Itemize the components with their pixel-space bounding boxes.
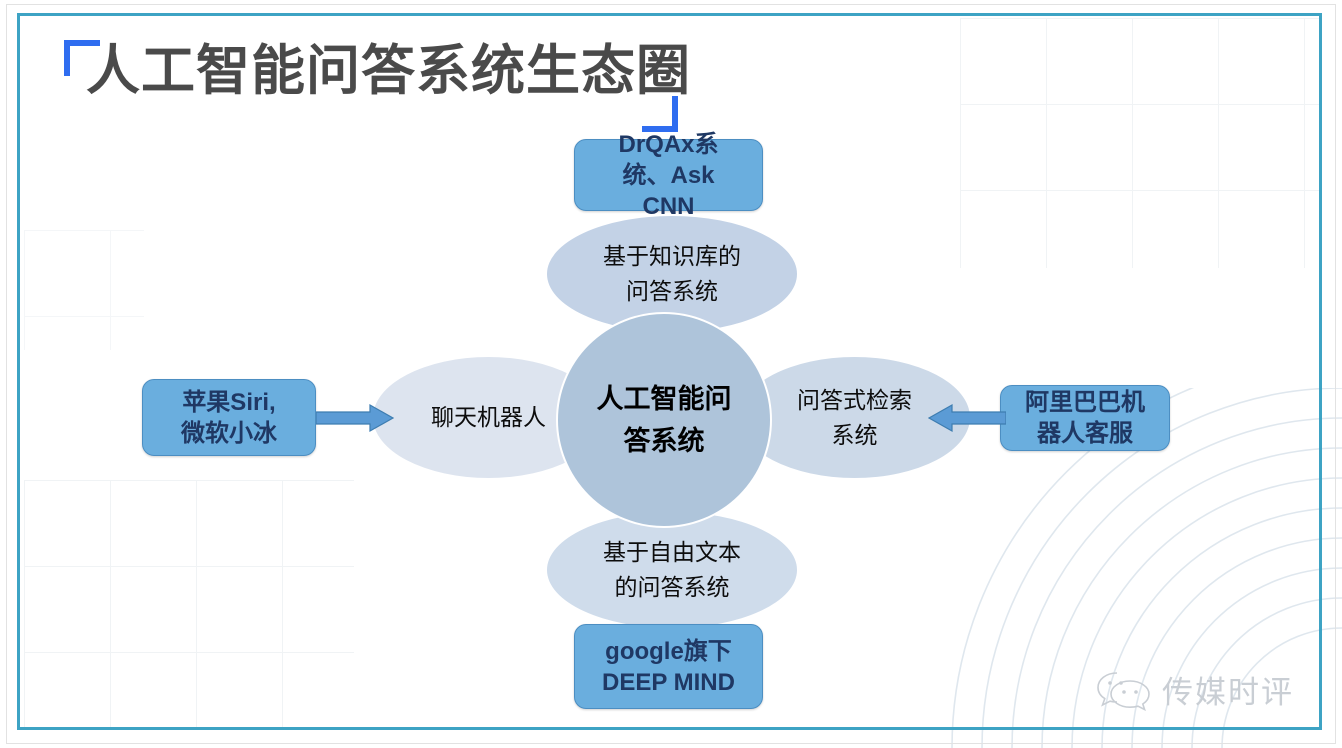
node-box-top-label: DrQAx系 统、Ask CNN xyxy=(618,129,718,222)
node-center-circle-label: 人工智能问 答系统 xyxy=(597,378,732,462)
watermark-text: 传媒时评 xyxy=(1162,667,1294,712)
arrow-left-icon xyxy=(928,403,1006,433)
node-box-bottom[interactable]: google旗下 DEEP MIND xyxy=(574,624,763,709)
watermark: 传媒时评 xyxy=(1096,667,1294,712)
node-ellipse-chatbot-label: 聊天机器人 xyxy=(431,400,546,435)
node-ellipse-free-text[interactable]: 基于自由文本 的问答系统 xyxy=(545,510,799,630)
arrow-right-icon xyxy=(316,403,394,433)
node-box-bottom-label: google旗下 DEEP MIND xyxy=(602,636,735,698)
node-box-left[interactable]: 苹果Siri, 微软小冰 xyxy=(142,379,316,456)
wechat-bubbles-icon xyxy=(1096,669,1152,711)
node-box-right[interactable]: 阿里巴巴机 器人客服 xyxy=(1000,385,1170,451)
slide-canvas: 人工智能问答系统生态圈 DrQAx系 统、Ask CNN 基于知识库的 问答系统… xyxy=(0,0,1342,748)
node-center-circle[interactable]: 人工智能问 答系统 xyxy=(556,312,772,528)
node-box-right-label: 阿里巴巴机 器人客服 xyxy=(1025,387,1145,449)
node-box-top[interactable]: DrQAx系 统、Ask CNN xyxy=(574,139,763,211)
node-ellipse-retrieval-label: 问答式检索 系统 xyxy=(797,383,912,453)
ecosystem-diagram: DrQAx系 统、Ask CNN 基于知识库的 问答系统 聊天机器人 问答式检索… xyxy=(0,0,1342,748)
node-box-left-label: 苹果Siri, 微软小冰 xyxy=(181,387,277,449)
node-ellipse-free-text-label: 基于自由文本 的问答系统 xyxy=(603,535,741,605)
node-ellipse-knowledge-base-label: 基于知识库的 问答系统 xyxy=(603,239,741,309)
